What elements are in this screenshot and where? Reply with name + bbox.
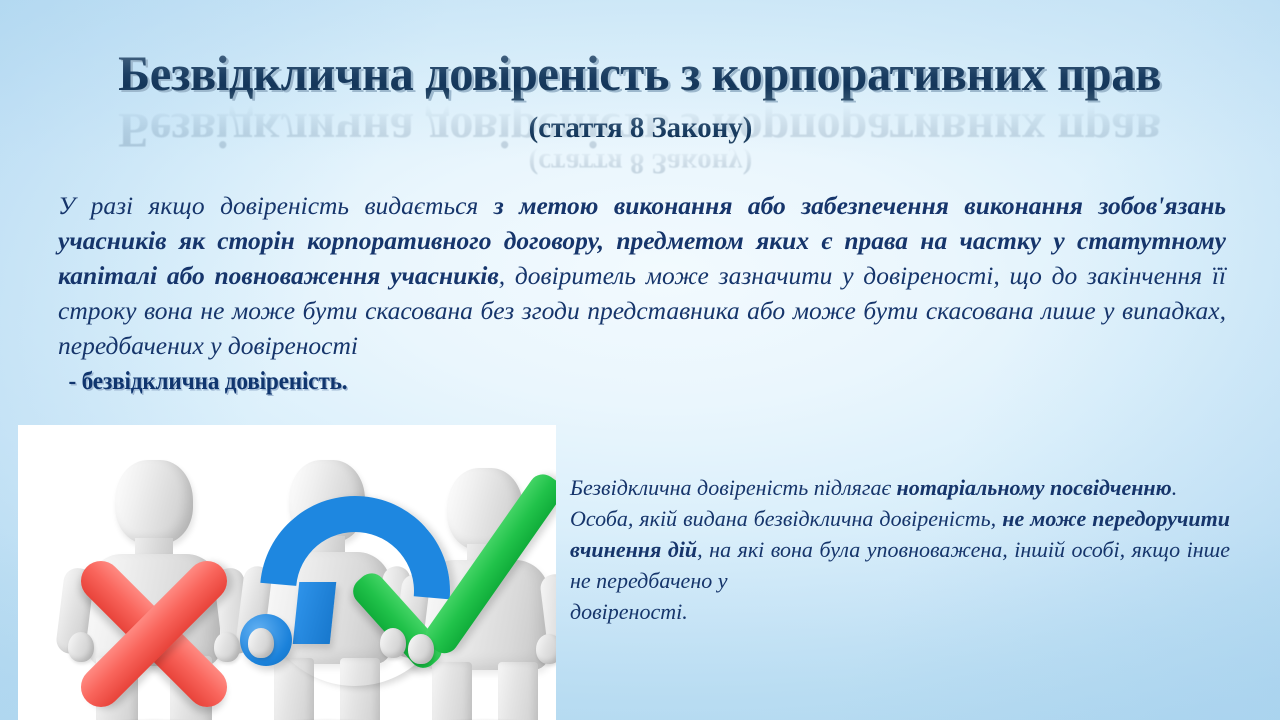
side-paragraph-1: Безвідклична довіреність підлягає нотарі… <box>570 472 1230 503</box>
title-sub-reflection-text: (стаття 8 Закону) <box>528 145 752 181</box>
main-paragraph: У разі якщо довіреність видається з мето… <box>58 188 1226 399</box>
green-checkmark-icon <box>360 474 556 694</box>
presentation-slide: Безвідклична довіреність з корпоративних… <box>0 0 1280 720</box>
slide-title-block: Безвідклична довіреність з корпоративних… <box>0 44 1280 148</box>
side-p1-bold: нотаріальному посвідченню <box>897 475 1172 500</box>
illustration-image <box>18 425 556 720</box>
title-sub-reflection: (стаття 8 Закону) <box>0 145 1280 181</box>
title-main-wrapper: Безвідклична довіреність з корпоративних… <box>0 44 1280 108</box>
main-paragraph-key-term: - безвідклична довіреність. <box>68 364 347 399</box>
title-sub-wrapper: (стаття 8 Закону) (стаття 8 Закону) <box>0 110 1280 148</box>
side-p2-plain-3: довіреності. <box>570 596 1230 627</box>
figure-with-red-cross <box>54 456 254 720</box>
side-p1-plain-2: . <box>1172 475 1178 500</box>
main-paragraph-segment-plain-1: У разі якщо довіреність видається <box>58 191 494 220</box>
page-title: Безвідклична довіреність з корпоративних… <box>119 44 1162 102</box>
page-subtitle: (стаття 8 Закону) <box>528 110 752 146</box>
side-text-block: Безвідклична довіреність підлягає нотарі… <box>570 472 1230 627</box>
side-p1-plain-1: Безвідклична довіреність підлягає <box>570 475 897 500</box>
side-paragraph-2: Особа, якій видана безвідклична довірені… <box>570 503 1230 627</box>
red-cross-icon <box>34 534 274 720</box>
figure-with-green-check <box>390 456 556 720</box>
side-p2-plain-1: Особа, якій видана безвідклична довірені… <box>570 506 1002 531</box>
